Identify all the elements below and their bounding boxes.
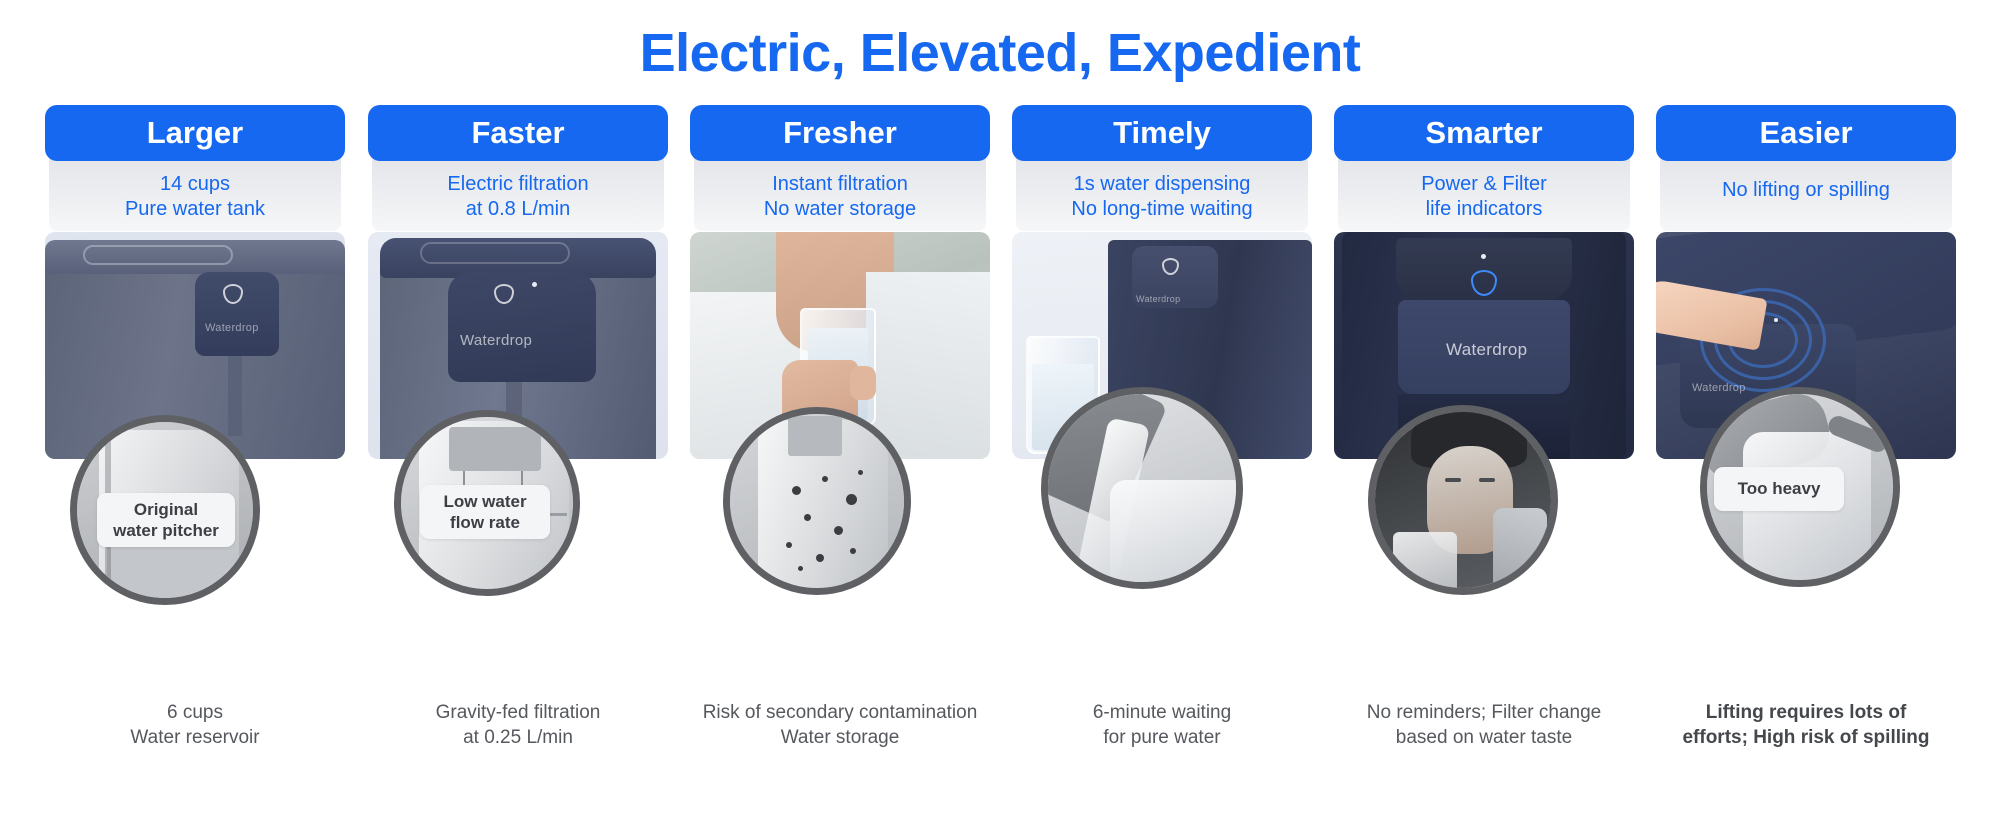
comparison-circle (1041, 387, 1243, 589)
column-subtitle-box: No lifting or spilling (1660, 151, 1952, 231)
column-caption: No reminders; Filter change based on wat… (1334, 700, 1634, 751)
subtitle-line-2: at 0.8 L/min (466, 197, 571, 223)
column-caption: 6-minute waiting for pure water (1012, 700, 1312, 751)
column-subtitle-box: Electric filtration at 0.8 L/min (372, 151, 664, 231)
column-caption: Gravity-fed filtration at 0.25 L/min (368, 700, 668, 751)
brand-wordmark: Waterdrop (1446, 340, 1527, 360)
column-caption: Risk of secondary contamination Water st… (690, 700, 990, 751)
subtitle-line-2: Pure water tank (125, 197, 265, 223)
caption-line-2: for pure water (1012, 725, 1312, 750)
caption-line-1: 6 cups (45, 700, 345, 725)
caption-line-1: Risk of secondary contamination (690, 700, 990, 725)
column-header-label: Larger (147, 115, 243, 151)
column-subtitle-box: 14 cups Pure water tank (49, 151, 341, 231)
badge-line-1: Original (113, 499, 219, 520)
comparison-circle (723, 407, 911, 595)
caption-line-2: at 0.25 L/min (368, 725, 668, 750)
column-header-label: Fresher (783, 115, 897, 151)
subtitle-line-1: Instant filtration (772, 172, 908, 198)
caption-line-2: efforts; High risk of spilling (1656, 725, 1956, 750)
subtitle-line-1: Power & Filter (1421, 172, 1547, 198)
circle-badge: Too heavy (1714, 467, 1844, 511)
badge-line-2: water pitcher (113, 520, 219, 541)
page-title: Electric, Elevated, Expedient (0, 22, 2000, 84)
column-subtitle-box: 1s water dispensing No long-time waiting (1016, 151, 1308, 231)
column-header-pill: Larger (45, 105, 345, 161)
column-header-pill: Timely (1012, 105, 1312, 161)
column-subtitle-box: Instant filtration No water storage (694, 151, 986, 231)
subtitle-line-2: No long-time waiting (1071, 197, 1252, 223)
caption-line-2: based on water taste (1334, 725, 1634, 750)
caption-line-2: Water storage (690, 725, 990, 750)
column-header-label: Faster (471, 115, 564, 151)
circle-badge: Original water pitcher (97, 493, 235, 547)
caption-line-1: 6-minute waiting (1012, 700, 1312, 725)
caption-line-1: No reminders; Filter change (1334, 700, 1634, 725)
badge-line-1: Too heavy (1738, 478, 1821, 499)
subtitle-line-1: No lifting or spilling (1722, 178, 1890, 204)
badge-line-2: flow rate (443, 512, 526, 533)
column-header-label: Smarter (1425, 115, 1542, 151)
column-header-pill: Smarter (1334, 105, 1634, 161)
caption-line-1: Gravity-fed filtration (368, 700, 668, 725)
comparison-circle (1368, 405, 1558, 595)
column-header-label: Timely (1113, 115, 1211, 151)
column-caption: 6 cups Water reservoir (45, 700, 345, 751)
brand-wordmark: Waterdrop (460, 332, 532, 349)
caption-line-2: Water reservoir (45, 725, 345, 750)
column-header-pill: Easier (1656, 105, 1956, 161)
subtitle-line-1: Electric filtration (447, 172, 588, 198)
column-header-label: Easier (1759, 115, 1852, 151)
column-header-pill: Fresher (690, 105, 990, 161)
brand-wordmark: Waterdrop (1136, 294, 1180, 304)
subtitle-line-1: 14 cups (160, 172, 230, 198)
caption-line-1: Lifting requires lots of (1656, 700, 1956, 725)
comparison-columns: Larger 14 cups Pure water tank Waterdrop (0, 105, 2000, 820)
subtitle-line-1: 1s water dispensing (1074, 172, 1251, 198)
subtitle-line-2: life indicators (1426, 197, 1543, 223)
brand-wordmark: Waterdrop (205, 322, 259, 334)
infographic-root: Electric, Elevated, Expedient Larger 14 … (0, 0, 2000, 820)
column-subtitle-box: Power & Filter life indicators (1338, 151, 1630, 231)
circle-badge: Low water flow rate (420, 485, 550, 539)
badge-line-1: Low water (443, 491, 526, 512)
brand-wordmark: Waterdrop (1692, 382, 1746, 394)
column-header-pill: Faster (368, 105, 668, 161)
column-caption: Lifting requires lots of efforts; High r… (1656, 700, 1956, 751)
subtitle-line-2: No water storage (764, 197, 916, 223)
